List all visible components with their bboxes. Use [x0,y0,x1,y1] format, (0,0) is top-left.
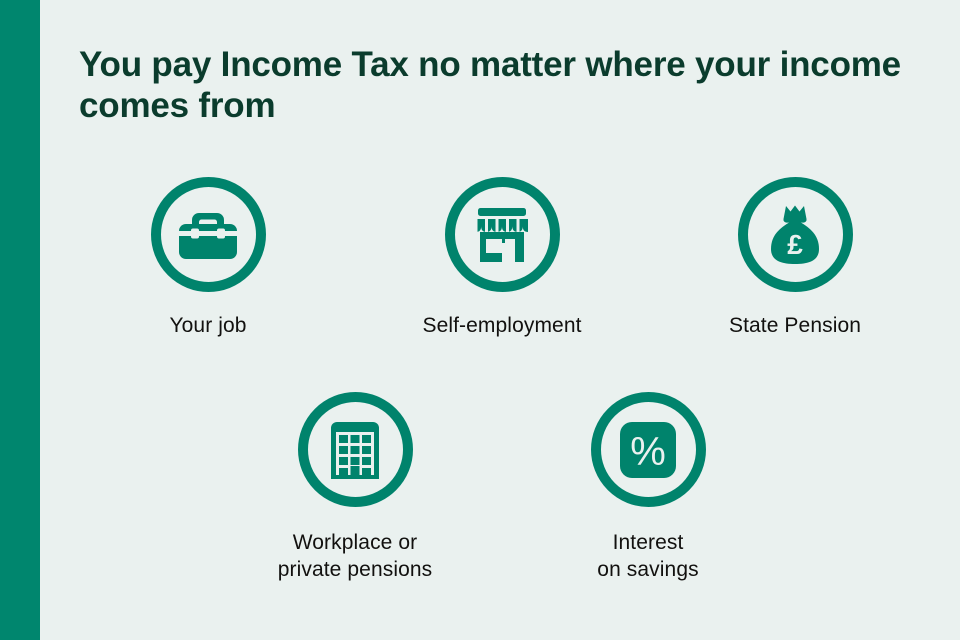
infographic-poster: You pay Income Tax no matter where your … [0,0,960,640]
shop-icon [472,206,532,264]
income-source-workplace-pensions: Workplace or private pensions [240,392,470,583]
income-source-state-pension: £ State Pension [680,177,910,339]
pound-glyph: £ [787,229,803,260]
percent-icon: % [618,420,678,480]
left-accent-bar [0,0,40,640]
income-source-your-job: Your job [93,177,323,339]
percent-glyph: % [630,430,666,474]
percent-icon-ring: % [591,392,706,507]
money-bag-icon-ring: £ [738,177,853,292]
income-source-label: Workplace or private pensions [240,529,470,583]
money-bag-icon: £ [764,204,826,266]
briefcase-icon-ring [151,177,266,292]
briefcase-icon [177,209,239,261]
income-source-self-employment: Self-employment [387,177,617,339]
office-building-icon-ring [298,392,413,507]
income-sources-grid: Your job [40,0,960,640]
income-source-label: Interest on savings [533,529,763,583]
income-source-label: Your job [93,312,323,339]
income-source-label: Self-employment [387,312,617,339]
shop-icon-ring [445,177,560,292]
income-source-label: State Pension [680,312,910,339]
poster-content: You pay Income Tax no matter where your … [40,0,960,640]
income-source-interest-savings: % Interest on savings [533,392,763,583]
office-building-icon [326,419,384,481]
